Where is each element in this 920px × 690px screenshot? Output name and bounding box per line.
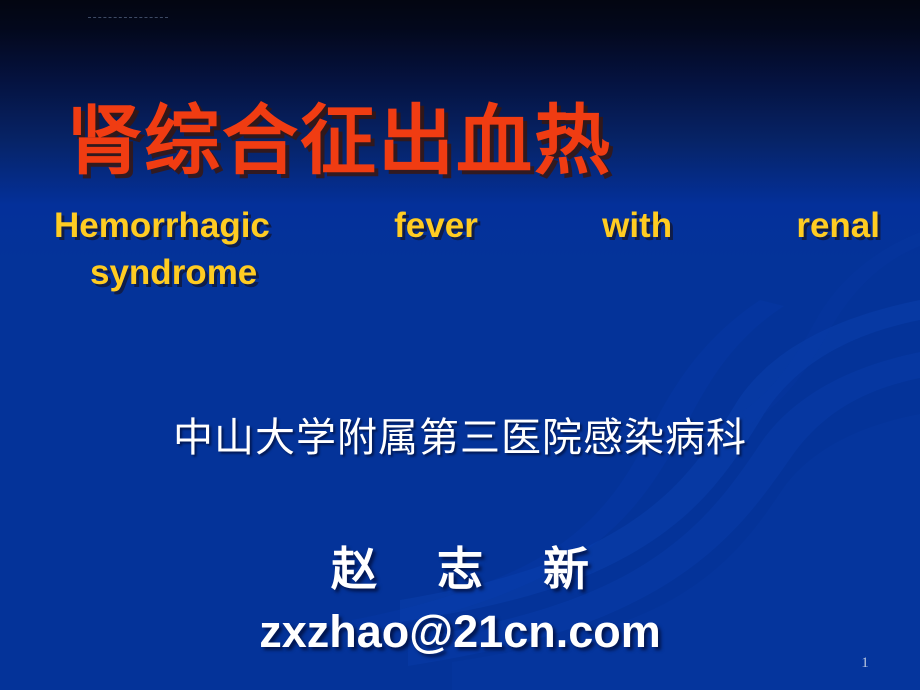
- presentation-slide: 肾综合征出血热 Hemorrhagic fever with renal syn…: [0, 0, 920, 690]
- slide-subtitle-english-line1: Hemorrhagic fever with renal: [54, 202, 880, 249]
- author-affiliation: 中山大学附属第三医院感染病科: [0, 412, 920, 464]
- slide-title-chinese: 肾综合征出血热: [66, 98, 612, 184]
- slide-subtitle-english: Hemorrhagic fever with renal syndrome: [54, 202, 880, 296]
- presenter-email: zxzhao@21cn.com: [0, 604, 920, 660]
- slide-subtitle-english-line2: syndrome: [90, 249, 880, 296]
- slide-page-number: 1: [855, 655, 875, 672]
- top-dashed-rule: [88, 17, 168, 18]
- presenter-name: 赵 志 新: [0, 540, 920, 598]
